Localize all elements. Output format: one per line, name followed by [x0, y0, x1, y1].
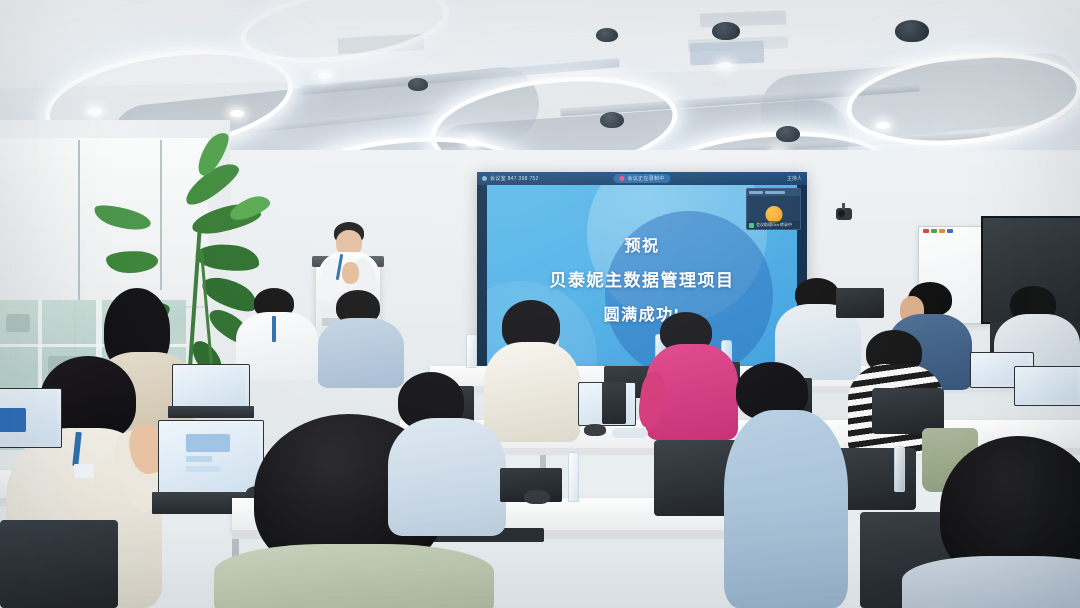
downlight-4: [318, 72, 332, 79]
laptop-mid-3[interactable]: [602, 382, 626, 424]
pip-chip-2: [765, 191, 785, 194]
ceiling-speaker-4: [600, 112, 624, 128]
blind-cord-left[interactable]: [78, 140, 80, 300]
marker-blue[interactable]: [947, 229, 953, 233]
shield-icon: [482, 176, 487, 181]
bottle-back-1[interactable]: [466, 334, 477, 368]
camera-mount: [842, 203, 845, 209]
ceiling-camera-icon: [836, 208, 852, 220]
mouse-front[interactable]: [524, 490, 550, 504]
microphone-icon: [749, 223, 754, 228]
ceiling-vent-2: [700, 11, 786, 28]
pip-footer: 会议助理Ora·转录中: [747, 221, 801, 229]
center-woman-cream-torso: [484, 342, 580, 442]
host-label: 主持人: [787, 175, 802, 182]
chair-front-left[interactable]: [0, 520, 118, 608]
laptop-back-1[interactable]: [836, 288, 884, 318]
presenter-hands-clapping: [342, 262, 359, 284]
back-man-blue-torso: [318, 318, 404, 388]
ceiling-speaker-6: [408, 78, 428, 91]
ceiling-speaker-2: [712, 22, 740, 40]
mid-man-light-blue-torso: [388, 418, 506, 536]
camera-lens-icon: [838, 210, 845, 217]
laptop-left-1-content: [0, 408, 26, 432]
downlight-7: [718, 62, 732, 69]
slide-line-1: 预祝: [624, 232, 659, 256]
front-left-woman-badge: [74, 464, 94, 478]
laptop-right-edge-screen: [1017, 369, 1077, 401]
mouse-mid[interactable]: [584, 424, 606, 436]
foreground-man-torso: [214, 544, 494, 608]
laptop-left-2-content-b: [186, 456, 212, 462]
bottle-front-1-cap: [569, 448, 576, 452]
slide-line-2: 贝泰妮主数据管理项目: [550, 266, 735, 291]
window-reflection-1: [6, 314, 30, 332]
ceiling-speaker-5: [776, 126, 800, 142]
recording-indicator[interactable]: 会议正在录制中: [613, 174, 670, 183]
downlight-2: [230, 110, 244, 117]
video-conference-toolbar[interactable]: 会议室 847 398 752 会议正在录制中 主持人: [477, 172, 807, 185]
laptop-left-3-screen: [175, 367, 245, 405]
right-man-light-blue-torso: [724, 410, 848, 608]
back-man-white-lanyard: [272, 316, 276, 342]
meeting-id-group: 会议室 847 398 752: [482, 175, 539, 182]
conference-room-photo: 预祝 贝泰妮主数据管理项目 圆满成功! 会议室 847 398 752 会议正在…: [0, 0, 1080, 608]
ceiling-speaker-3: [895, 20, 929, 42]
record-dot-icon: [619, 176, 624, 181]
laptop-left-3-keyboard[interactable]: [168, 406, 254, 418]
downlight-1: [88, 108, 102, 115]
downlight-5: [466, 140, 480, 147]
foreground-man-right-torso: [902, 556, 1080, 608]
notepad-mid: [612, 428, 648, 438]
bottle-front-2[interactable]: [894, 446, 905, 492]
marker-green[interactable]: [931, 229, 937, 233]
participant-thumbnail[interactable]: 会议助理Ora·转录中: [746, 188, 801, 230]
ceiling-speaker-1: [596, 28, 618, 42]
marker-red[interactable]: [923, 229, 929, 233]
pip-header: [747, 189, 800, 196]
participant-name-label: 会议助理Ora·转录中: [756, 222, 792, 228]
laptop-left-2-content-a: [186, 434, 230, 452]
recording-label: 会议正在录制中: [627, 175, 664, 182]
blind-cord-right[interactable]: [160, 140, 162, 290]
pip-chip-1: [749, 191, 763, 194]
laptop-left-2-content-c: [186, 466, 220, 472]
window-roller-blind[interactable]: [0, 138, 208, 308]
meeting-id-label: 会议室 847 398 752: [490, 175, 539, 182]
bottle-front-1[interactable]: [568, 452, 579, 502]
downlight-8: [876, 122, 890, 129]
marker-orange[interactable]: [939, 229, 945, 233]
